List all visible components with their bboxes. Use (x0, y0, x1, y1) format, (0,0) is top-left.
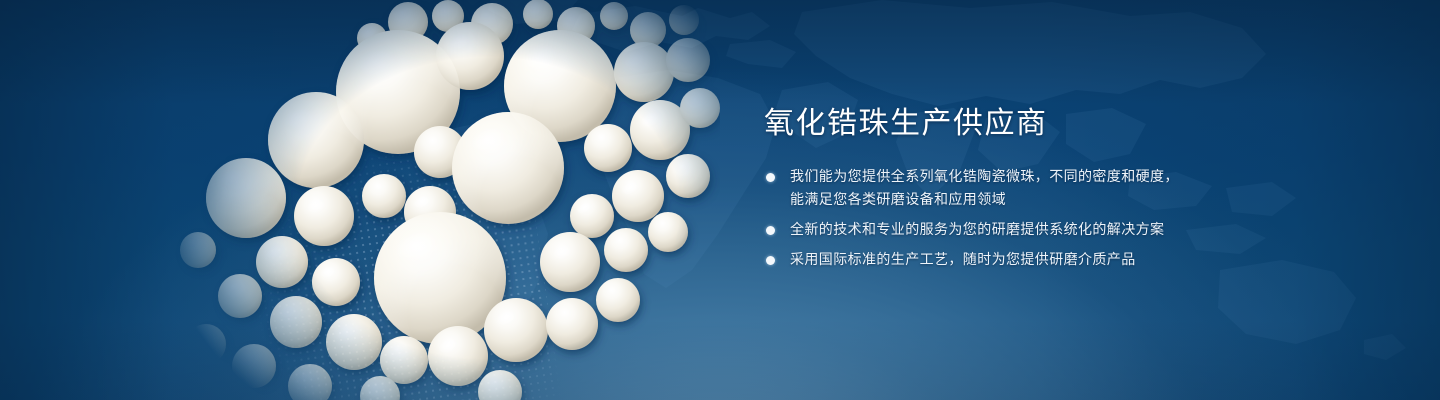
list-item-label: 采用国际标准的生产工艺，随时为您提供研磨介质产品 (790, 249, 1364, 272)
banner-copy: 氧化锆珠生产供应商 我们能为您提供全系列氧化锆陶瓷微珠，不同的密度和硬度， 能满… (764, 104, 1364, 272)
bullet-dot-icon (766, 256, 775, 265)
zirconia-beads-photo (140, 0, 720, 400)
page-title: 氧化锆珠生产供应商 (764, 104, 1364, 144)
list-item-line2: 能满足您各类研磨设备和应用领域 (790, 189, 1364, 212)
list-item: 全新的技术和专业的服务为您的研磨提供系统化的解决方案 (764, 219, 1364, 242)
bullet-dot-icon (766, 226, 775, 235)
list-item-label: 全新的技术和专业的服务为您的研磨提供系统化的解决方案 (790, 219, 1364, 242)
list-item: 我们能为您提供全系列氧化锆陶瓷微珠，不同的密度和硬度， 能满足您各类研磨设备和应… (764, 166, 1364, 212)
list-item: 采用国际标准的生产工艺，随时为您提供研磨介质产品 (764, 249, 1364, 272)
hero-banner: 氧化锆珠生产供应商 我们能为您提供全系列氧化锆陶瓷微珠，不同的密度和硬度， 能满… (0, 0, 1440, 400)
list-item-line1: 我们能为您提供全系列氧化锆陶瓷微珠，不同的密度和硬度， (790, 169, 1179, 185)
list-item-label: 我们能为您提供全系列氧化锆陶瓷微珠，不同的密度和硬度， 能满足您各类研磨设备和应… (790, 166, 1364, 212)
feature-list: 我们能为您提供全系列氧化锆陶瓷微珠，不同的密度和硬度， 能满足您各类研磨设备和应… (764, 166, 1364, 272)
bullet-dot-icon (766, 173, 775, 182)
